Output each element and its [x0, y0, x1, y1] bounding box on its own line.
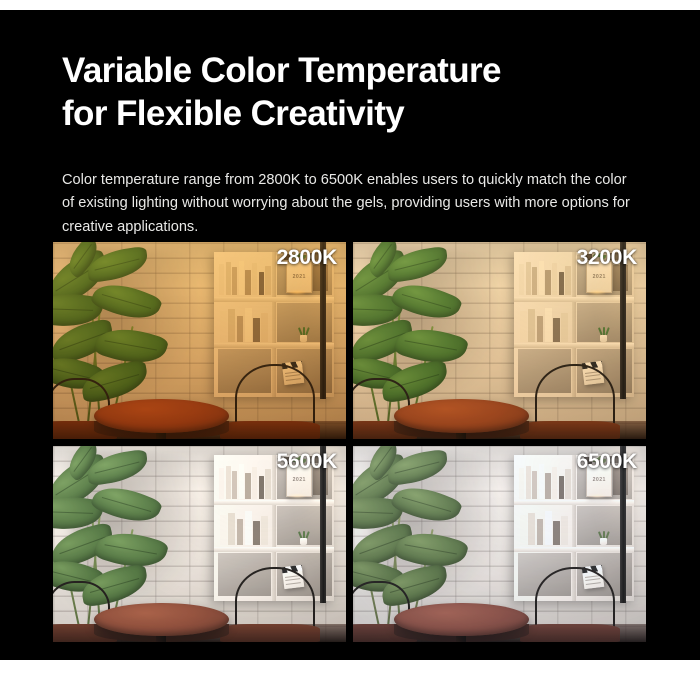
books-row — [519, 463, 571, 499]
chair-seat — [520, 624, 620, 642]
round-wood-table — [94, 399, 229, 432]
temperature-label: 3200K — [577, 246, 637, 270]
temperature-label: 2800K — [277, 246, 337, 270]
scene-5600k: 2021 — [53, 446, 346, 643]
panel-3200k[interactable]: 2021 — [353, 242, 646, 439]
books-row — [219, 463, 271, 499]
round-wood-table — [394, 603, 529, 636]
scene-6500k: 2021 — [353, 446, 646, 643]
chair-seat — [520, 421, 620, 439]
books-row — [219, 259, 271, 295]
scene-3200k: 2021 — [353, 242, 646, 439]
temperature-label: 6500K — [577, 450, 637, 474]
books-row — [519, 259, 571, 295]
headline-line-2: for Flexible Creativity — [62, 93, 652, 136]
panel-6500k[interactable]: 2021 — [353, 446, 646, 643]
panel-5600k[interactable]: 2021 — [53, 446, 346, 643]
round-wood-table — [94, 603, 229, 636]
promo-canvas: Variable Color Temperature for Flexible … — [0, 10, 700, 660]
books-row — [220, 306, 268, 342]
page-title: Variable Color Temperature for Flexible … — [62, 50, 652, 135]
panel-2800k[interactable]: 2021 — [53, 242, 346, 439]
chair-seat — [220, 421, 320, 439]
books-row — [220, 509, 268, 545]
books-row — [520, 509, 568, 545]
body-paragraph: Color temperature range from 2800K to 65… — [62, 169, 640, 240]
page-root: Variable Color Temperature for Flexible … — [0, 0, 700, 700]
color-temperature-grid: 2021 — [53, 242, 646, 642]
scene-2800k: 2021 — [53, 242, 346, 439]
temperature-label: 5600K — [277, 450, 337, 474]
round-wood-table — [394, 399, 529, 432]
chair-seat — [220, 624, 320, 642]
books-row — [520, 306, 568, 342]
headline-line-1: Variable Color Temperature — [62, 50, 652, 93]
